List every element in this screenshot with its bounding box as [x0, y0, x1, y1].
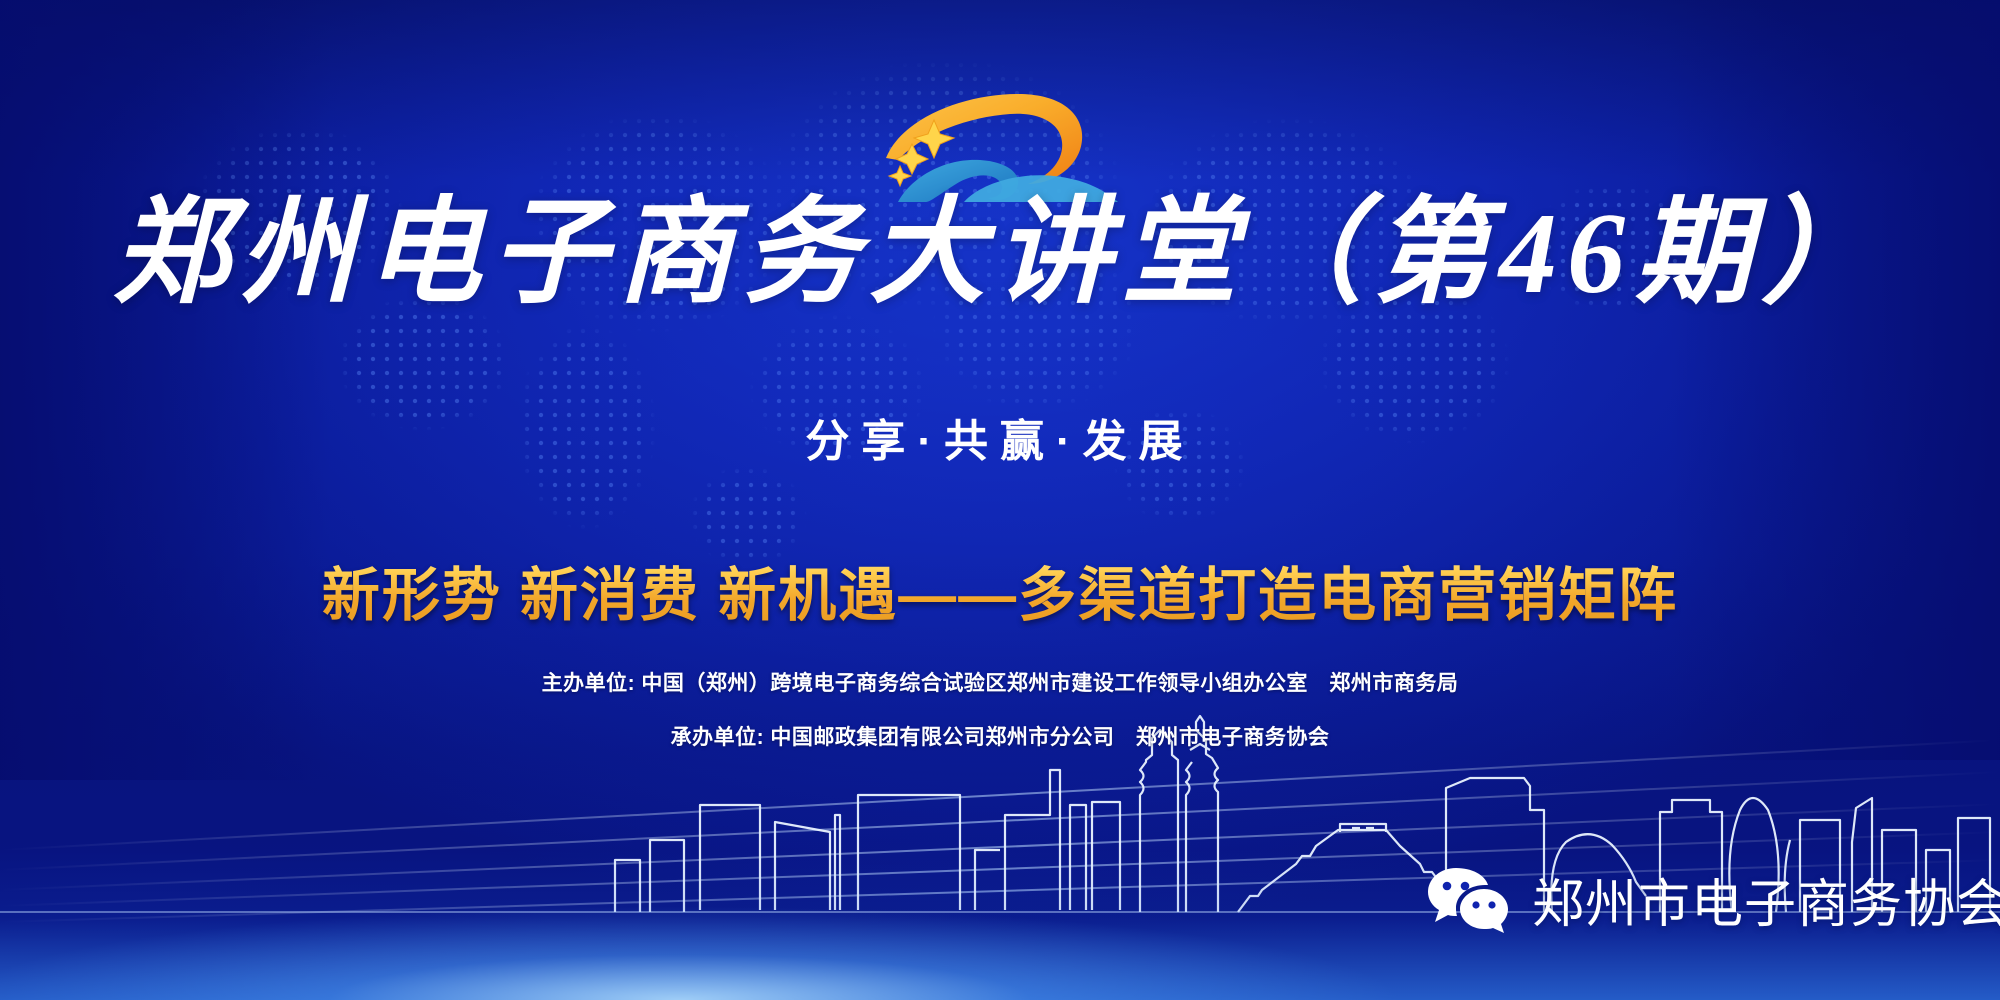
wechat-badge[interactable]: 郑州市电子商务协会: [1426, 862, 2000, 937]
organizer-line-co-host: 承办单位: 中国邮政集团有限公司郑州市分公司 郑州市电子商务协会: [0, 727, 2000, 748]
zhengzhou-ecommerce-logo: [868, 72, 1138, 202]
headline-topic: 新形势 新消费 新机遇——多渠道打造电商营销矩阵: [0, 548, 2000, 632]
page-title: 郑州电子商务大讲堂（第46期）: [0, 196, 2000, 312]
poster-canvas: 郑州电子商务大讲堂（第46期） 分享·共赢·发展 新形势 新消费 新机遇——多渠…: [0, 0, 2000, 1000]
wechat-account-name: 郑州市电子商务协会: [1532, 862, 2000, 937]
background-left-shade: [0, 0, 330, 780]
organizer-line-host: 主办单位: 中国（郑州）跨境电子商务综合试验区郑州市建设工作领导小组办公室 郑州…: [0, 673, 2000, 694]
subtitle-slogan: 分享·共赢·发展: [0, 405, 2000, 469]
organizer-block: 主办单位: 中国（郑州）跨境电子商务综合试验区郑州市建设工作领导小组办公室 郑州…: [0, 673, 2000, 781]
wechat-icon: [1426, 865, 1510, 935]
background-right-shade: [1670, 0, 2000, 760]
